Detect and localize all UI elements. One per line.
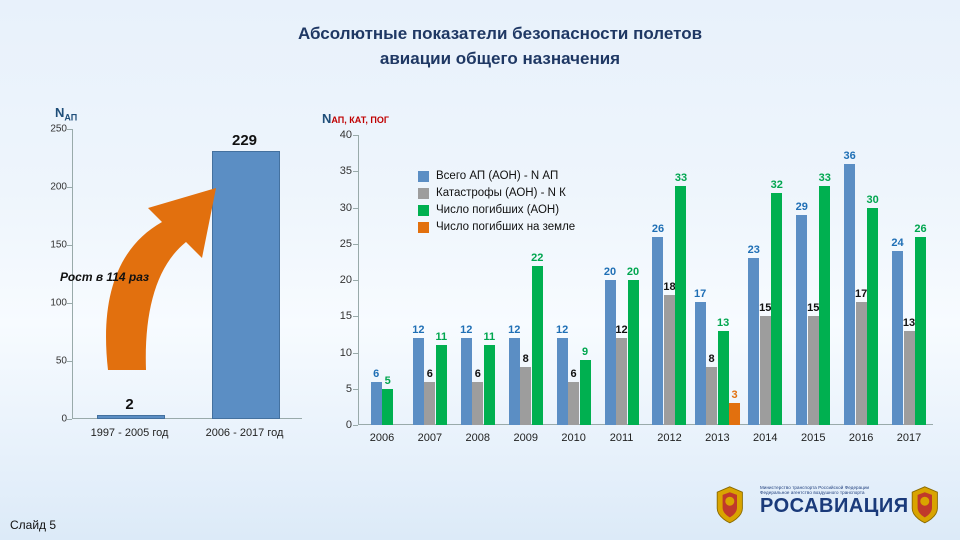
right-chart-category-label: 2014 bbox=[753, 432, 777, 444]
right-chart-bar[interactable]: 23 bbox=[748, 258, 759, 425]
right-chart-bar-value: 29 bbox=[796, 201, 808, 213]
right-chart-bar[interactable]: 30 bbox=[867, 208, 878, 426]
right-chart-bar-value: 6 bbox=[427, 368, 433, 380]
right-chart-bar-value: 11 bbox=[483, 331, 495, 343]
right-chart-category-label: 2009 bbox=[513, 432, 537, 444]
right-chart-bar-value: 8 bbox=[709, 353, 715, 365]
right-chart-bar-value: 24 bbox=[891, 237, 903, 249]
logo-name: РОСАВИАЦИЯ bbox=[760, 495, 910, 518]
right-chart-bar-value: 6 bbox=[475, 368, 481, 380]
page-title-line2: авиации общего назначения bbox=[180, 47, 820, 72]
right-chart-bar[interactable]: 6 bbox=[424, 382, 435, 426]
right-chart-bar[interactable]: 6 bbox=[472, 382, 483, 426]
right-chart-group: 1781332013 bbox=[693, 135, 741, 425]
left-chart-y-axis-label: NАП bbox=[55, 105, 77, 123]
right-bar-chart: NАП, КАТ, ПОГ Всего АП (АОН) - N АПКатас… bbox=[318, 105, 948, 450]
right-chart-bar[interactable]: 12 bbox=[413, 338, 424, 425]
right-chart-bar[interactable]: 6 bbox=[371, 382, 382, 426]
right-chart-bar-value: 17 bbox=[694, 288, 706, 300]
right-chart-bar[interactable]: 24 bbox=[892, 251, 903, 425]
right-chart-group: 126112007 bbox=[406, 135, 454, 425]
right-chart-bar-value: 8 bbox=[523, 353, 529, 365]
right-chart-category-label: 2007 bbox=[418, 432, 442, 444]
right-chart-bar-value: 17 bbox=[855, 288, 867, 300]
right-chart-group: 126112008 bbox=[454, 135, 502, 425]
logo-text-block: Министерство транспорта Российской Федер… bbox=[760, 485, 910, 518]
right-chart-category-label: 2010 bbox=[561, 432, 585, 444]
left-chart-bar[interactable] bbox=[97, 415, 165, 419]
right-chart-bar-value: 33 bbox=[675, 172, 687, 184]
right-chart-category-label: 2015 bbox=[801, 432, 825, 444]
right-chart-category-label: 2013 bbox=[705, 432, 729, 444]
left-chart-y-tick-mark bbox=[67, 419, 72, 420]
right-chart-bar-value: 3 bbox=[732, 389, 738, 401]
right-chart-bar[interactable]: 13 bbox=[904, 331, 915, 425]
right-chart-bar-value: 6 bbox=[373, 368, 379, 380]
right-chart-group: 2915332015 bbox=[789, 135, 837, 425]
right-chart-bar-value: 15 bbox=[807, 302, 819, 314]
right-chart-bar-value: 12 bbox=[460, 324, 472, 336]
right-chart-group: 3617302016 bbox=[837, 135, 885, 425]
right-chart-category-label: 2008 bbox=[466, 432, 490, 444]
right-chart-bar-value: 30 bbox=[866, 194, 878, 206]
right-chart-bar-value: 26 bbox=[652, 223, 664, 235]
right-chart-group: 652006 bbox=[358, 135, 406, 425]
right-chart-bar[interactable]: 6 bbox=[568, 382, 579, 426]
right-chart-group: 2315322014 bbox=[741, 135, 789, 425]
right-chart-bar-value: 13 bbox=[903, 317, 915, 329]
page-title: Абсолютные показатели безопасности полет… bbox=[180, 22, 820, 71]
right-chart-bar[interactable]: 26 bbox=[915, 237, 926, 426]
right-chart-bar[interactable]: 17 bbox=[856, 302, 867, 425]
right-chart-plot-area: Всего АП (АОН) - N АПКатастрофы (АОН) - … bbox=[358, 135, 933, 425]
right-chart-category-label: 2012 bbox=[657, 432, 681, 444]
right-chart-y-axis-label: NАП, КАТ, ПОГ bbox=[322, 111, 389, 126]
right-chart-bar-value: 12 bbox=[556, 324, 568, 336]
right-chart-bar[interactable]: 20 bbox=[628, 280, 639, 425]
right-chart-bar-value: 15 bbox=[759, 302, 771, 314]
right-chart-bar-value: 9 bbox=[582, 346, 588, 358]
right-chart-group: 2012202011 bbox=[598, 135, 646, 425]
right-chart-bar[interactable]: 17 bbox=[695, 302, 706, 425]
right-chart-bar-value: 23 bbox=[748, 244, 760, 256]
growth-annotation: Рост в 114 раз bbox=[60, 270, 149, 284]
left-chart-category-label: 1997 - 2005 год bbox=[91, 427, 169, 439]
right-chart-bar-value: 5 bbox=[385, 375, 391, 387]
right-chart-group: 12692010 bbox=[550, 135, 598, 425]
right-chart-bar[interactable]: 15 bbox=[808, 316, 819, 425]
right-chart-bar[interactable]: 33 bbox=[819, 186, 830, 425]
right-chart-bar-value: 20 bbox=[627, 266, 639, 278]
right-chart-bar[interactable]: 12 bbox=[461, 338, 472, 425]
right-chart-bar[interactable]: 26 bbox=[652, 237, 663, 426]
right-chart-bar-value: 6 bbox=[571, 368, 577, 380]
right-chart-bar[interactable]: 9 bbox=[580, 360, 591, 425]
right-chart-bar[interactable]: 29 bbox=[796, 215, 807, 425]
right-chart-bar[interactable]: 12 bbox=[509, 338, 520, 425]
right-chart-group: 128222009 bbox=[502, 135, 550, 425]
right-chart-bar[interactable]: 15 bbox=[760, 316, 771, 425]
right-chart-bar-value: 12 bbox=[412, 324, 424, 336]
growth-arrow-icon bbox=[70, 130, 250, 380]
right-chart-bar[interactable]: 12 bbox=[616, 338, 627, 425]
right-chart-bar[interactable]: 20 bbox=[605, 280, 616, 425]
right-chart-bar-value: 33 bbox=[819, 172, 831, 184]
right-chart-bar-value: 22 bbox=[531, 252, 543, 264]
right-chart-bar-value: 26 bbox=[914, 223, 926, 235]
right-chart-bar-value: 36 bbox=[843, 150, 855, 162]
right-chart-bar[interactable]: 18 bbox=[664, 295, 675, 426]
left-chart-category-label: 2006 - 2017 год bbox=[206, 427, 284, 439]
page-title-line1: Абсолютные показатели безопасности полет… bbox=[180, 22, 820, 47]
right-chart-group: 2413262017 bbox=[885, 135, 933, 425]
slide-number: Слайд 5 bbox=[10, 518, 56, 532]
right-chart-bar[interactable]: 36 bbox=[844, 164, 855, 425]
right-chart-bar[interactable]: 12 bbox=[557, 338, 568, 425]
right-chart-bar[interactable]: 22 bbox=[532, 266, 543, 426]
right-chart-bar[interactable]: 13 bbox=[718, 331, 729, 425]
right-chart-bar[interactable]: 8 bbox=[520, 367, 531, 425]
right-chart-bar[interactable]: 11 bbox=[436, 345, 447, 425]
right-chart-group: 2618332012 bbox=[646, 135, 694, 425]
left-chart-bar-value: 2 bbox=[125, 396, 133, 413]
right-chart-bar-value: 18 bbox=[663, 281, 675, 293]
right-chart-bar-value: 20 bbox=[604, 266, 616, 278]
right-chart-category-label: 2016 bbox=[849, 432, 873, 444]
right-chart-bar[interactable]: 33 bbox=[675, 186, 686, 425]
right-chart-bar-value: 12 bbox=[615, 324, 627, 336]
right-chart-bar[interactable]: 32 bbox=[771, 193, 782, 425]
right-chart-bar[interactable]: 3 bbox=[729, 403, 740, 425]
right-chart-bar[interactable]: 11 bbox=[484, 345, 495, 425]
right-chart-bar-value: 13 bbox=[717, 317, 729, 329]
right-chart-category-label: 2017 bbox=[897, 432, 921, 444]
right-chart-y-tick-mark bbox=[353, 425, 358, 426]
right-chart-bar-value: 11 bbox=[436, 331, 448, 343]
right-chart-bar-value: 12 bbox=[508, 324, 520, 336]
right-chart-bar-value: 32 bbox=[771, 179, 783, 191]
right-chart-category-label: 2011 bbox=[610, 432, 634, 444]
right-chart-bar[interactable]: 5 bbox=[382, 389, 393, 425]
right-chart-category-label: 2006 bbox=[370, 432, 394, 444]
right-chart-bar[interactable]: 8 bbox=[706, 367, 717, 425]
